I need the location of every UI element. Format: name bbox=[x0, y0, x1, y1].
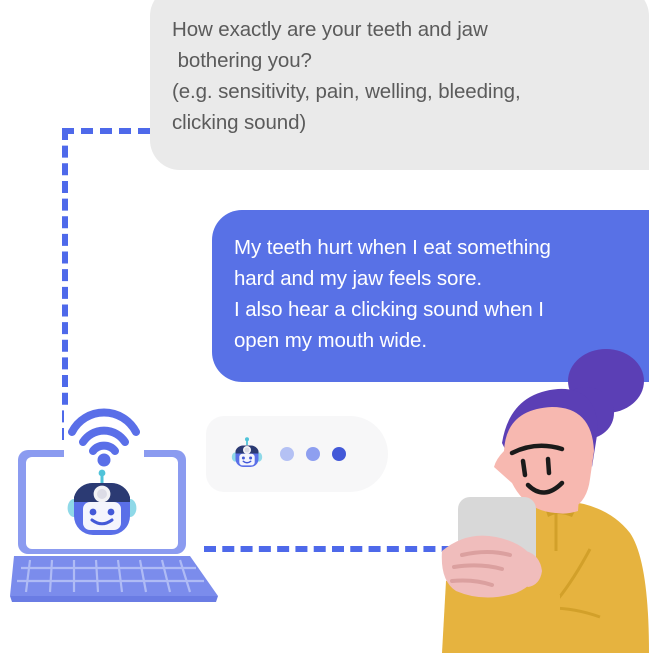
robot-avatar-icon bbox=[230, 437, 264, 471]
connector-dash-bottom-horizontal bbox=[204, 546, 472, 552]
person-with-phone-icon bbox=[440, 355, 649, 653]
user-message-line-3: I also hear a clicking sound when I bbox=[234, 294, 640, 325]
bot-message-line-2: bothering you? bbox=[172, 45, 623, 76]
typing-dot-1 bbox=[280, 447, 294, 461]
chatbot-illustration-canvas: How exactly are your teeth and jaw bothe… bbox=[0, 0, 649, 653]
user-message-line-2: hard and my jaw feels sore. bbox=[234, 263, 640, 294]
user-message-line-1: My teeth hurt when I eat something bbox=[234, 232, 640, 263]
wifi-icon bbox=[64, 408, 144, 464]
bot-message-line-3: (e.g. sensitivity, pain, welling, bleedi… bbox=[172, 76, 623, 107]
connector-dash-left-vertical bbox=[62, 128, 68, 440]
bot-message-line-1: How exactly are your teeth and jaw bbox=[172, 14, 623, 45]
typing-dots-group bbox=[280, 447, 346, 461]
typing-dot-3 bbox=[332, 447, 346, 461]
typing-indicator-bubble bbox=[206, 416, 388, 492]
connector-dash-top-horizontal bbox=[62, 128, 150, 134]
bot-message-line-4: clicking sound) bbox=[172, 107, 623, 138]
typing-dot-2 bbox=[306, 447, 320, 461]
user-message-line-4: open my mouth wide. bbox=[234, 325, 640, 356]
bot-message-bubble: How exactly are your teeth and jaw bothe… bbox=[150, 0, 649, 170]
